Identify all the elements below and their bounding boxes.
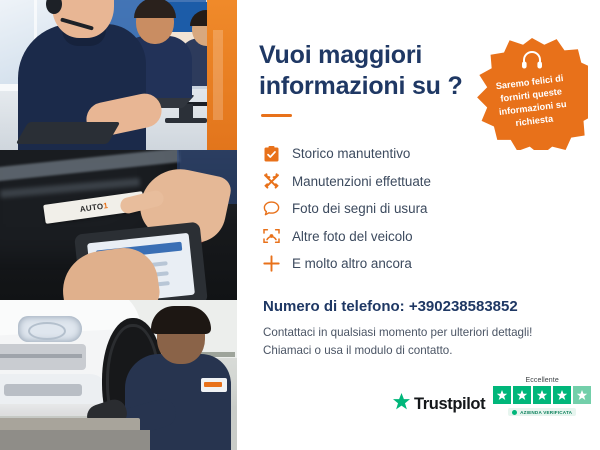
trustpilot-stars: [493, 386, 591, 404]
content-panel: Vuoi maggiori informazioni su ? Saremo f…: [237, 0, 600, 450]
feature-label: Manutenzioni effettuate: [292, 174, 431, 189]
photo3-headlight: [18, 316, 82, 342]
trustpilot-rating[interactable]: Trustpilot Eccellente: [392, 377, 591, 416]
photo-vehicle-inspection-with-tablet: AUTO1: [0, 150, 237, 300]
trustpilot-star-box: [533, 386, 551, 404]
photo3-lower-grille: [4, 384, 82, 396]
photo1-desk-mat: [16, 122, 121, 144]
photo-call-center-agents-with-headsets: [0, 0, 237, 150]
tools-cross-icon: [263, 173, 280, 190]
title-underline-rule: [261, 114, 292, 117]
feature-label: E molto altro ancora: [292, 256, 412, 271]
feature-item-foto-segni-usura: Foto dei segni di usura: [263, 195, 578, 223]
trustpilot-star-box: [513, 386, 531, 404]
headset-icon: [521, 51, 543, 74]
photo3-uniform-badge: [201, 378, 227, 392]
trustpilot-star-box: [573, 386, 591, 404]
phone-number-line[interactable]: Numero di telefono: +390238583852: [263, 298, 578, 315]
page-title: Vuoi maggiori informazioni su ?: [259, 40, 474, 101]
trustpilot-star-box: [493, 386, 511, 404]
feature-label: Storico manutentivo: [292, 146, 410, 161]
informations-ad-card: AUTO1: [0, 0, 600, 450]
photo3-grille: [0, 344, 86, 370]
verified-company-badge: AZIENDA VERIFICATA: [508, 408, 576, 416]
contact-line-2: Chiamaci o usa il modulo di contatto.: [263, 342, 578, 360]
photo-column: AUTO1: [0, 0, 237, 450]
photo3-lift-base: [0, 430, 150, 450]
photo-frame-icon: [263, 228, 280, 245]
trustpilot-score-block: Eccellente: [493, 377, 591, 416]
photo-mechanic-checking-wheel: [0, 300, 237, 450]
trustpilot-rating-label: Eccellente: [526, 377, 559, 384]
feature-item-altre-foto-veicolo: Altre foto del veicolo: [263, 223, 578, 251]
feature-label: Foto dei segni di usura: [292, 201, 427, 216]
contact-text: Contattaci in qualsiasi momento per ulte…: [263, 324, 578, 360]
feature-label: Altre foto del veicolo: [292, 229, 413, 244]
trustpilot-logo: Trustpilot: [392, 393, 485, 416]
clipboard-check-icon: [263, 145, 280, 162]
feature-list: Storico manutentivo Manutenzioni effettu…: [263, 140, 578, 278]
callout-badge: Saremo felici di fornirti queste informa…: [476, 38, 588, 150]
photo1-monitor-base: [165, 118, 207, 123]
plus-icon: [263, 255, 280, 272]
photo3-mechanic-hair: [151, 306, 211, 334]
trustpilot-wordmark: Trustpilot: [414, 395, 485, 414]
photo1-orange-panel: [207, 0, 237, 150]
verified-badge-text: AZIENDA VERIFICATA: [520, 410, 572, 415]
verified-check-icon: [512, 410, 517, 415]
photo2-label-text: AUTO1: [79, 202, 108, 214]
speech-bubble-icon: [263, 200, 280, 217]
contact-line-1: Contattaci in qualsiasi momento per ulte…: [263, 324, 578, 342]
feature-item-manutenzioni-effettuate: Manutenzioni effettuate: [263, 168, 578, 196]
feature-item-molto-altro: E molto altro ancora: [263, 250, 578, 278]
trustpilot-star-box: [553, 386, 571, 404]
trustpilot-star-icon: [392, 393, 411, 416]
